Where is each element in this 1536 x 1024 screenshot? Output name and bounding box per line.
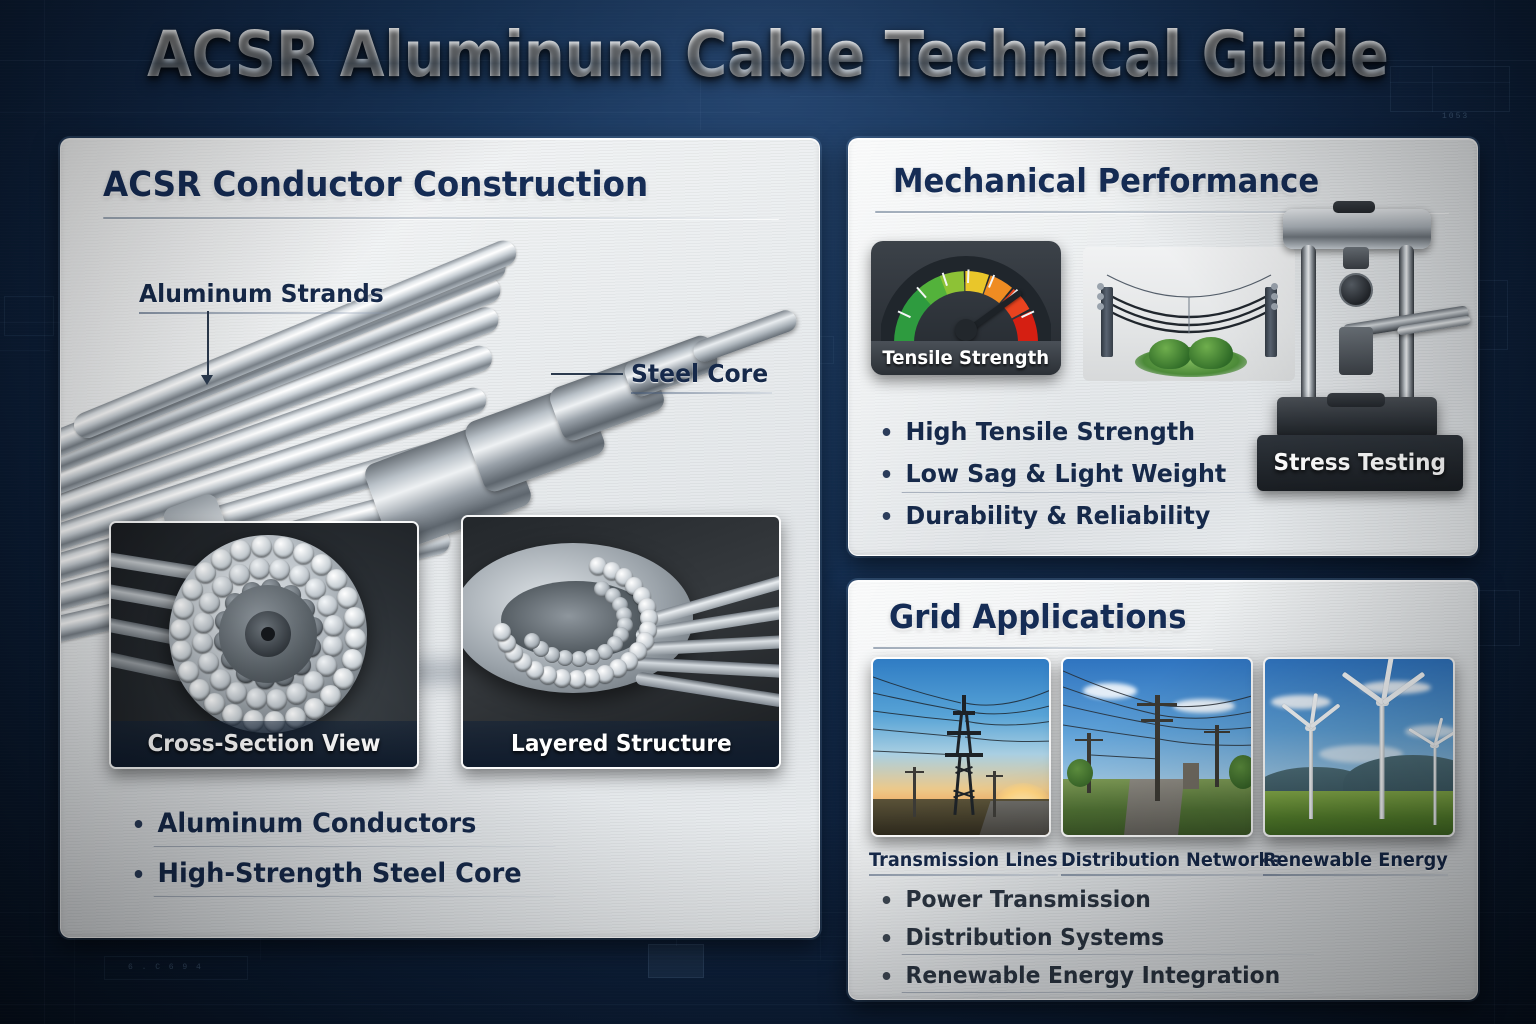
grid-heading: Grid Applications [889, 597, 1187, 636]
strand-circle [304, 698, 325, 719]
strand-circle [286, 683, 307, 704]
strand-circle [251, 536, 272, 557]
list-item: High Tensile Strength [877, 411, 1226, 453]
construction-heading: ACSR Conductor Construction [103, 165, 648, 205]
panel-acsr-conductor-construction: ACSR Conductor Construction [60, 138, 820, 938]
renewable-energy-photo [1263, 657, 1455, 837]
mechanical-bullet-1: Low Sag & Light Weight [906, 459, 1227, 488]
bullet-underline [154, 896, 556, 897]
steel-core-callout-label: Steel Core [631, 359, 768, 388]
renewable-scene [1265, 659, 1453, 835]
strand-circle [229, 564, 250, 585]
gauge-label: Tensile Strength [883, 347, 1050, 369]
caption-underline [869, 874, 1058, 876]
construction-bullet-list: Aluminum Conductors High-Strength Steel … [129, 799, 542, 899]
strand-circle [210, 669, 231, 690]
grid-heading-rule [873, 647, 1213, 649]
stress-testing-machine-image: Stress Testing [1247, 197, 1467, 487]
page-title: ACSR Aluminum Cable Technical Guide [147, 18, 1389, 91]
strand-circle [193, 612, 214, 633]
wind-turbine [1347, 677, 1417, 817]
wind-turbine [1283, 709, 1339, 817]
strand-circle [173, 598, 194, 619]
transmission-scene [873, 659, 1049, 835]
stress-testing-label: Stress Testing [1274, 450, 1447, 476]
strand-circle [337, 587, 358, 608]
grid-bullet-list: Power Transmission Distribution Systems … [877, 881, 1301, 995]
strand-circle [345, 628, 366, 649]
layered-structure-caption: Layered Structure [511, 731, 732, 757]
gauge-hub [955, 319, 977, 341]
strand-circle [322, 635, 343, 656]
strand-circle [178, 661, 199, 682]
panel-grid-applications: Grid Applications [848, 580, 1478, 1000]
list-item: High-Strength Steel Core [129, 849, 522, 899]
strand-circle [273, 537, 294, 558]
strand-circle [211, 549, 232, 570]
list-item: Renewable Energy Integration [877, 957, 1280, 995]
cross-section-photo: Cross-Section View [109, 521, 419, 769]
aluminum-strands-callout-label: Aluminum Strands [139, 279, 384, 308]
grid-bullet-0: Power Transmission [906, 887, 1151, 913]
mechanical-bullet-list: High Tensile Strength Low Sag & Light We… [877, 411, 1245, 537]
strand-circle [230, 540, 251, 561]
strand-circle [524, 633, 540, 649]
strand-circle [189, 679, 210, 700]
list-item: Low Sag & Light Weight [877, 453, 1226, 495]
panel-mechanical-performance: Mechanical Performance [848, 138, 1478, 556]
bullet-underline [902, 492, 1261, 493]
renewable-energy-caption: Renewable Energy [1263, 849, 1448, 871]
layered-structure-caption-bar: Layered Structure [463, 721, 779, 767]
strand-circle [171, 640, 192, 661]
strand-circle [269, 559, 290, 580]
transmission-lines-caption: Transmission Lines [869, 849, 1058, 871]
strand-circle [249, 558, 270, 579]
bullet-underline [902, 992, 1315, 993]
bullet-underline [902, 954, 1315, 955]
distribution-networks-caption: Distribution Networks [1061, 849, 1281, 871]
strand-circle [266, 689, 287, 710]
construction-bullet-0: Aluminum Conductors [158, 808, 477, 839]
strand-circle [192, 632, 213, 653]
grid-bullet-2: Renewable Energy Integration [906, 963, 1281, 989]
transmission-tower [945, 695, 983, 815]
infographic-poster: 1053 1053 6 . C 6 9 4 AC [0, 0, 1536, 1024]
steel-core-leader-line [551, 373, 623, 375]
layered-structure-photo: Layered Structure [461, 515, 781, 769]
stress-testing-label-wrap: Stress Testing [1257, 435, 1463, 491]
construction-heading-rule [103, 217, 779, 219]
gauge-caption-bar: Tensile Strength [871, 341, 1061, 375]
grid-bullet-1: Distribution Systems [906, 925, 1165, 951]
cross-section-caption-bar: Cross-Section View [111, 721, 417, 767]
mechanical-heading: Mechanical Performance [893, 161, 1319, 200]
distribution-scene [1063, 659, 1251, 835]
list-item: Aluminum Conductors [129, 799, 522, 849]
strand-circle [571, 651, 587, 667]
strand-circle [246, 688, 267, 709]
aluminum-strands-underline [139, 312, 388, 314]
distribution-networks-photo [1061, 657, 1253, 837]
caption-underline [1061, 874, 1281, 876]
list-item: Power Transmission [877, 881, 1280, 919]
cross-section-caption: Cross-Section View [147, 731, 380, 757]
tensile-strength-gauge: Tensile Strength [871, 241, 1061, 375]
wind-turbine [1409, 729, 1453, 821]
aluminum-strands-leader-arrow [201, 375, 213, 385]
transmission-lines-photo [871, 657, 1051, 837]
strand-circle [323, 615, 344, 636]
list-item: Distribution Systems [877, 919, 1280, 957]
mechanical-bullet-0: High Tensile Strength [906, 417, 1196, 446]
strand-circle [317, 595, 338, 616]
bullet-underline [154, 846, 556, 847]
caption-underline [1263, 874, 1448, 876]
strand-circle [342, 649, 363, 670]
strand-circle [198, 652, 219, 673]
construction-bullet-1: High-Strength Steel Core [158, 858, 522, 889]
aluminum-strands-leader-line [207, 311, 209, 377]
transmission-lines-caption-wrap: Transmission Lines [869, 849, 1058, 871]
poster-title-wrap: ACSR Aluminum Cable Technical Guide [0, 18, 1536, 91]
distribution-networks-caption-wrap: Distribution Networks [1061, 849, 1281, 871]
renewable-energy-caption-wrap: Renewable Energy [1263, 849, 1448, 871]
strand-circle [170, 619, 191, 640]
strand-circle [344, 607, 365, 628]
steel-core-underline [631, 392, 772, 394]
steel-core-callout: Steel Core [631, 359, 768, 388]
list-item: Durability & Reliability [877, 495, 1226, 537]
aluminum-strands-callout: Aluminum Strands [139, 279, 384, 308]
mechanical-bullet-2: Durability & Reliability [906, 501, 1211, 530]
